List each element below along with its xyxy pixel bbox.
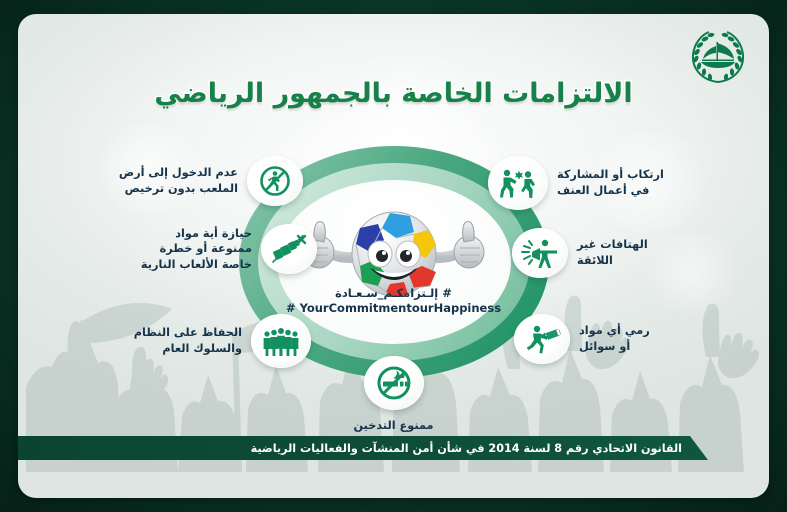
infographic-poster: الالتزامات الخاصة بالجمهور الرياضي bbox=[0, 0, 787, 512]
hashtag-arabic: # إلـتزامكـم_سـعـادة bbox=[18, 286, 769, 300]
poster-card: الالتزامات الخاصة بالجمهور الرياضي bbox=[18, 14, 769, 498]
obligation-caption: رمي أي مواد أو سوائل bbox=[579, 323, 650, 354]
no-fireworks-icon bbox=[261, 224, 317, 274]
violence-fighting-icon bbox=[488, 156, 548, 210]
obligation-item-chants[interactable]: الهتافات غير اللائقة bbox=[512, 228, 648, 278]
obligation-item-public-order[interactable]: الحفاظ على النظام والسلوك العام bbox=[134, 314, 311, 368]
crowd-people-icon bbox=[251, 314, 311, 368]
smiling-football-mascot bbox=[294, 210, 494, 296]
obligation-item-smoking[interactable]: ممنوع التدخين في الملعب bbox=[353, 356, 433, 449]
obligation-caption: ارتكاب أو المشاركة في أعمال العنف bbox=[557, 167, 664, 198]
obligation-caption: الحفاظ على النظام والسلوك العام bbox=[134, 325, 242, 356]
hashtag-english: # YourCommitmentourHappiness bbox=[18, 301, 769, 315]
footer-banner: القانون الاتحادي رقم 8 لسنة 2014 في شأن … bbox=[18, 436, 708, 460]
throwing-objects-icon bbox=[514, 314, 570, 364]
no-smoking-icon bbox=[364, 356, 424, 410]
obligation-item-throwing[interactable]: رمي أي مواد أو سوائل bbox=[514, 314, 650, 364]
no-pedestrian-entry-icon bbox=[247, 156, 303, 206]
thumbs-up-right bbox=[454, 222, 484, 268]
obligation-caption: عدم الدخول إلى أرض الملعب بدون ترخيص bbox=[119, 165, 238, 196]
obligation-item-violence[interactable]: ارتكاب أو المشاركة في أعمال العنف bbox=[488, 156, 664, 210]
page-title: الالتزامات الخاصة بالجمهور الرياضي bbox=[18, 78, 769, 109]
footer-law-text: القانون الاتحادي رقم 8 لسنة 2014 في شأن … bbox=[251, 442, 682, 455]
obligation-caption: حيازة أية مواد ممنوعة أو خطرة خاصة الألع… bbox=[141, 226, 252, 273]
obligation-item-materials[interactable]: حيازة أية مواد ممنوعة أو خطرة خاصة الألع… bbox=[141, 224, 317, 274]
obligation-item-entry[interactable]: عدم الدخول إلى أرض الملعب بدون ترخيص bbox=[119, 156, 303, 206]
megaphone-shouting-icon bbox=[512, 228, 568, 278]
obligation-caption: الهتافات غير اللائقة bbox=[577, 237, 648, 268]
